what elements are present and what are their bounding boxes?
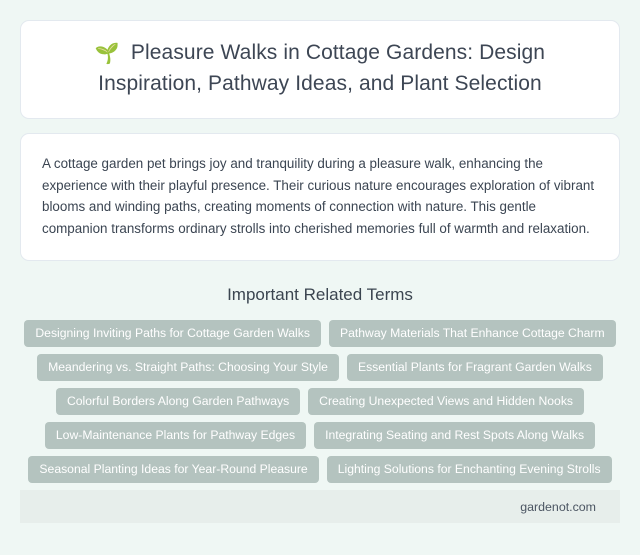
page-title: 🌱Pleasure Walks in Cottage Gardens: Desi… bbox=[43, 38, 597, 99]
related-term-tag[interactable]: Lighting Solutions for Enchanting Evenin… bbox=[327, 456, 612, 483]
page-title-text: Pleasure Walks in Cottage Gardens: Desig… bbox=[98, 41, 545, 95]
related-term-tag[interactable]: Low-Maintenance Plants for Pathway Edges bbox=[45, 422, 306, 449]
site-name-label: gardenot.com bbox=[520, 499, 596, 515]
footer-bar: gardenot.com bbox=[20, 490, 620, 523]
description-text: A cottage garden pet brings joy and tran… bbox=[42, 153, 598, 239]
related-term-tag[interactable]: Seasonal Planting Ideas for Year-Round P… bbox=[28, 456, 318, 483]
layout-spacer bbox=[20, 483, 620, 490]
related-term-tag[interactable]: Essential Plants for Fragrant Garden Wal… bbox=[347, 354, 603, 381]
title-card: 🌱Pleasure Walks in Cottage Gardens: Desi… bbox=[20, 20, 620, 119]
related-terms-heading: Important Related Terms bbox=[20, 284, 620, 306]
related-term-tag[interactable]: Pathway Materials That Enhance Cottage C… bbox=[329, 320, 616, 347]
page-root: 🌱Pleasure Walks in Cottage Gardens: Desi… bbox=[0, 0, 640, 555]
description-card: A cottage garden pet brings joy and tran… bbox=[20, 133, 620, 261]
related-terms-list: Designing Inviting Paths for Cottage Gar… bbox=[20, 320, 620, 483]
related-term-tag[interactable]: Integrating Seating and Rest Spots Along… bbox=[314, 422, 595, 449]
seedling-icon: 🌱 bbox=[95, 39, 120, 69]
related-term-tag[interactable]: Meandering vs. Straight Paths: Choosing … bbox=[37, 354, 339, 381]
related-term-tag[interactable]: Colorful Borders Along Garden Pathways bbox=[56, 388, 300, 415]
footer-bottom-gap bbox=[20, 523, 620, 535]
related-terms-section: Important Related Terms Designing Inviti… bbox=[20, 284, 620, 483]
related-term-tag[interactable]: Designing Inviting Paths for Cottage Gar… bbox=[24, 320, 321, 347]
related-term-tag[interactable]: Creating Unexpected Views and Hidden Noo… bbox=[308, 388, 584, 415]
